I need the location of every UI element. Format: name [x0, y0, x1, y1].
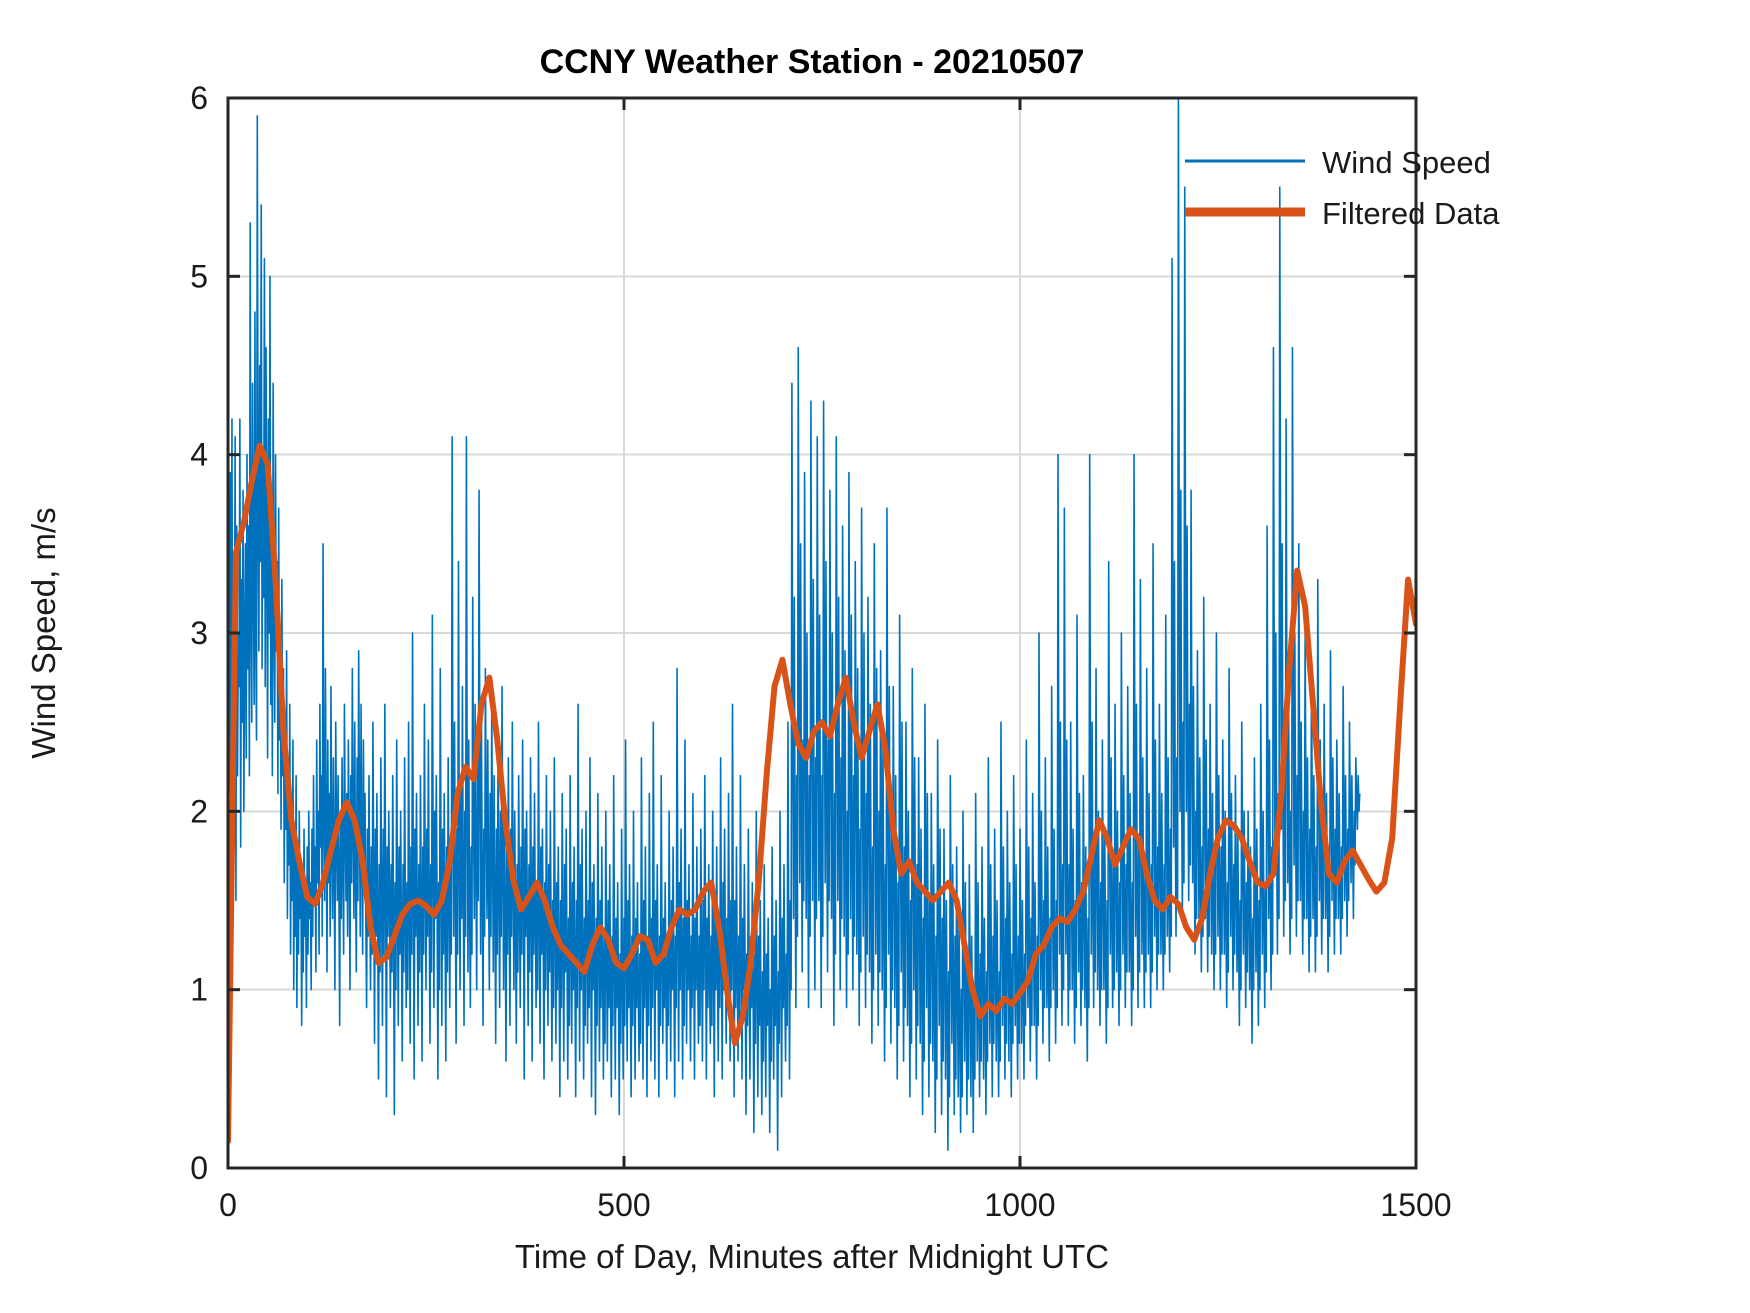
- x-axis-title: Time of Day, Minutes after Midnight UTC: [515, 1238, 1109, 1275]
- page-title: CCNY Weather Station - 20210507: [540, 43, 1085, 81]
- y-tick-label: 0: [190, 1150, 208, 1186]
- y-axis-title: Wind Speed, m/s: [25, 507, 62, 758]
- x-tick-label: 500: [597, 1187, 650, 1223]
- y-tick-label: 4: [190, 437, 208, 473]
- x-tick-label: 0: [219, 1187, 237, 1223]
- x-tick-label: 1000: [984, 1187, 1055, 1223]
- chart-figure: CCNY Weather Station - 20210507 05001000…: [0, 0, 1750, 1313]
- y-tick-label: 1: [190, 972, 208, 1008]
- x-tick-label: 1500: [1380, 1187, 1451, 1223]
- y-tick-label: 5: [190, 258, 208, 294]
- wind-speed-line-chart: CCNY Weather Station - 20210507 05001000…: [0, 0, 1750, 1313]
- y-tick-label: 6: [190, 80, 208, 116]
- y-tick-label: 2: [190, 793, 208, 829]
- legend-label-filtered-data: Filtered Data: [1322, 196, 1500, 231]
- legend-label-wind-speed: Wind Speed: [1322, 145, 1491, 180]
- y-tick-label: 3: [190, 615, 208, 651]
